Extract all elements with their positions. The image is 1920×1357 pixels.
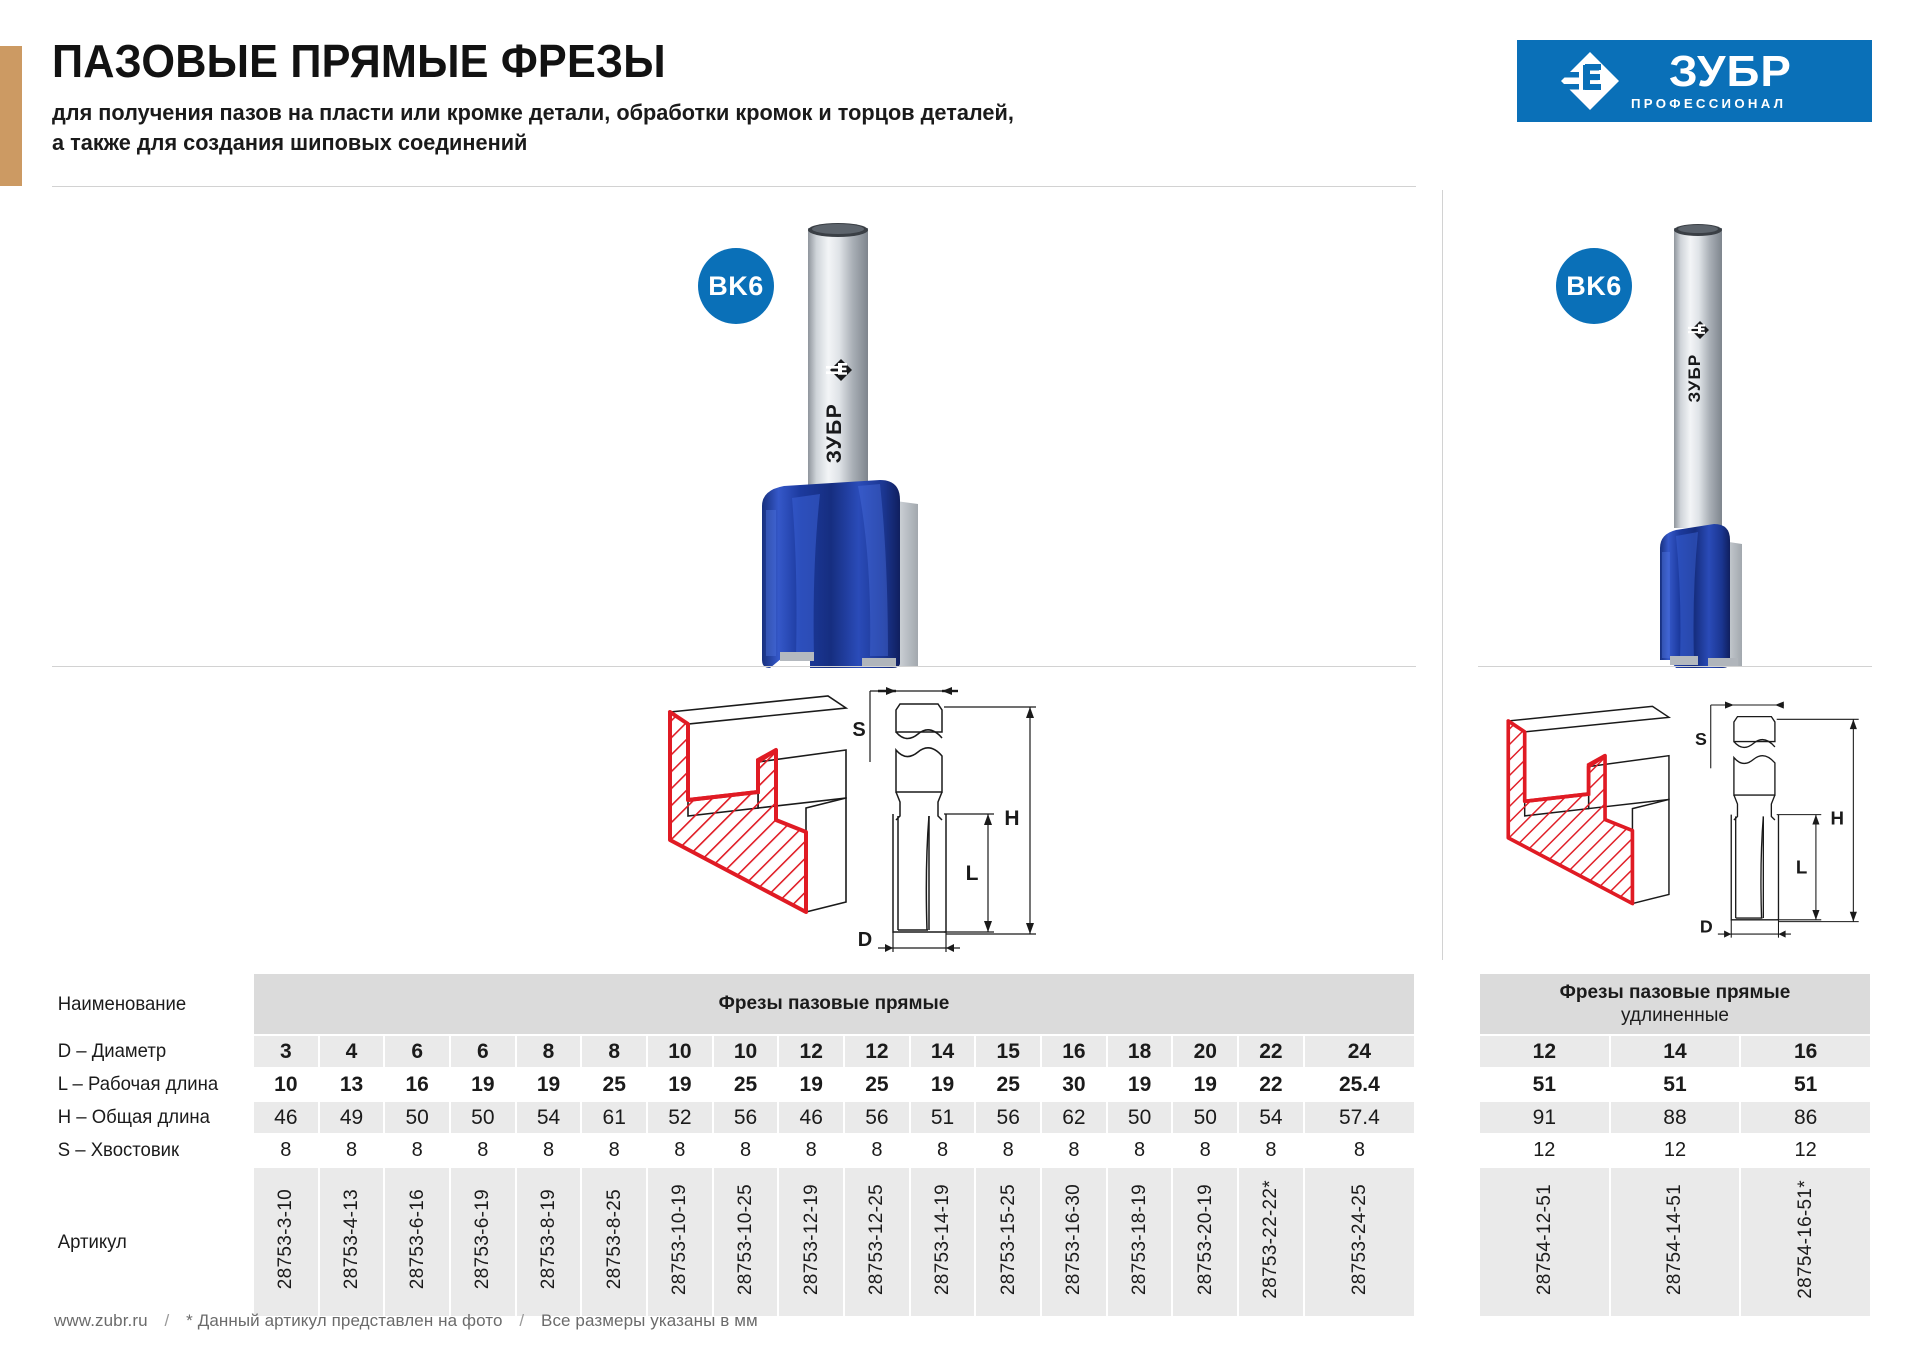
- cell-diameter-8: 12: [778, 1035, 844, 1068]
- cell-ext-total-length-0: 91: [1479, 1101, 1610, 1134]
- row-label-name: Наименование: [53, 973, 243, 1035]
- cell-diameter-12: 16: [1041, 1035, 1107, 1068]
- cell-work-length-14: 19: [1172, 1068, 1238, 1101]
- cell-diameter-15: 22: [1238, 1035, 1304, 1068]
- dimension-drawing-main: S H L D: [840, 680, 1070, 960]
- logo-text-group: ЗУБР ПРОФЕССИОНАЛ: [1631, 51, 1787, 111]
- cell-article-14: 28753-20-19: [1172, 1167, 1238, 1317]
- spec-table-extended: Фрезы пазовые прямые удлиненные 121416 5…: [1478, 972, 1872, 1318]
- cell-article-15: 28753-22-22*: [1238, 1167, 1304, 1317]
- footer-site[interactable]: www.zubr.ru: [54, 1311, 148, 1330]
- group-header-extended-sub: удлиненные: [1480, 1005, 1870, 1027]
- cell-total-length-3: 50: [450, 1101, 516, 1134]
- cell-total-length-11: 56: [975, 1101, 1041, 1134]
- row-label-article: Артикул: [53, 1167, 243, 1317]
- cell-shank-5: 8: [581, 1134, 647, 1167]
- cell-work-length-4: 19: [516, 1068, 582, 1101]
- article-text: 28753-6-16: [408, 1189, 427, 1289]
- page-title: ПАЗОВЫЕ ПРЯМЫЕ ФРЕЗЫ: [52, 38, 1330, 86]
- table-row-diameter: D – Диаметр 3466881010121214151618202224: [53, 1035, 1415, 1068]
- datasheet-page: ПАЗОВЫЕ ПРЯМЫЕ ФРЕЗЫ для получения пазов…: [0, 0, 1920, 1357]
- cell-article-6: 28753-10-19: [647, 1167, 713, 1317]
- cell-diameter-13: 18: [1107, 1035, 1173, 1068]
- article-text: 28753-10-19: [670, 1184, 689, 1295]
- cell-shank-3: 8: [450, 1134, 516, 1167]
- table-row-total-length-ext: 918886: [1479, 1101, 1871, 1134]
- cell-total-length-1: 49: [319, 1101, 385, 1134]
- cell-shank-2: 8: [384, 1134, 450, 1167]
- article-text: 28753-20-19: [1196, 1184, 1215, 1295]
- cell-ext-diameter-0: 12: [1479, 1035, 1610, 1068]
- article-text: 28753-6-19: [473, 1189, 492, 1289]
- cell-diameter-2: 6: [384, 1035, 450, 1068]
- divider-top: [52, 186, 1416, 187]
- cell-total-length-8: 46: [778, 1101, 844, 1134]
- cell-ext-diameter-2: 16: [1740, 1035, 1871, 1068]
- cell-shank-10: 8: [910, 1134, 976, 1167]
- cell-ext-shank-0: 12: [1479, 1134, 1610, 1167]
- cell-work-length-16: 25.4: [1304, 1068, 1415, 1101]
- cell-shank-11: 8: [975, 1134, 1041, 1167]
- cell-ext-work-length-0: 51: [1479, 1068, 1610, 1101]
- cell-work-length-1: 13: [319, 1068, 385, 1101]
- article-text: 28753-3-10: [276, 1189, 295, 1289]
- cell-diameter-6: 10: [647, 1035, 713, 1068]
- cell-total-length-0: 46: [253, 1101, 319, 1134]
- cell-work-length-15: 22: [1238, 1068, 1304, 1101]
- cell-work-length-5: 25: [581, 1068, 647, 1101]
- cell-total-length-7: 56: [713, 1101, 779, 1134]
- cell-diameter-1: 4: [319, 1035, 385, 1068]
- cell-shank-9: 8: [844, 1134, 910, 1167]
- article-text: 28753-12-25: [867, 1184, 886, 1295]
- zubr-diamond-icon: [1559, 50, 1621, 112]
- cell-total-length-15: 54: [1238, 1101, 1304, 1134]
- article-text: 28754-12-51: [1535, 1184, 1554, 1295]
- svg-text:ЗУБР: ЗУБР: [1685, 354, 1704, 403]
- groove-workpiece-diagram-extended: [1490, 690, 1700, 940]
- subtitle-line-1: для получения пазов на пласти или кромке…: [52, 98, 1364, 128]
- cell-article-0: 28753-3-10: [253, 1167, 319, 1317]
- cell-total-length-14: 50: [1172, 1101, 1238, 1134]
- cell-diameter-0: 3: [253, 1035, 319, 1068]
- article-text: 28753-4-13: [342, 1189, 361, 1289]
- cell-total-length-6: 52: [647, 1101, 713, 1134]
- dim-label-d: D: [858, 929, 872, 951]
- carbide-grade-badge-main: BK6: [698, 248, 774, 324]
- cell-article-13: 28753-18-19: [1107, 1167, 1173, 1317]
- cell-article-1: 28753-4-13: [319, 1167, 385, 1317]
- cell-article-3: 28753-6-19: [450, 1167, 516, 1317]
- svg-text:L: L: [1796, 856, 1807, 877]
- cell-diameter-9: 12: [844, 1035, 910, 1068]
- row-label-shank: S – Хвостовик: [53, 1134, 243, 1167]
- cell-article-9: 28753-12-25: [844, 1167, 910, 1317]
- cell-ext-shank-2: 12: [1740, 1134, 1871, 1167]
- shank-brand-text: ЗУБР: [823, 403, 846, 464]
- table-row-diameter-ext: 121416: [1479, 1035, 1871, 1068]
- cell-article-5: 28753-8-25: [581, 1167, 647, 1317]
- divider-vertical: [1442, 190, 1443, 960]
- cell-article-2: 28753-6-16: [384, 1167, 450, 1317]
- cell-shank-6: 8: [647, 1134, 713, 1167]
- cell-article-12: 28753-16-30: [1041, 1167, 1107, 1317]
- article-text: 28753-22-22*: [1261, 1180, 1280, 1299]
- cell-diameter-16: 24: [1304, 1035, 1415, 1068]
- cell-shank-7: 8: [713, 1134, 779, 1167]
- cell-shank-8: 8: [778, 1134, 844, 1167]
- svg-text:D: D: [1700, 916, 1713, 936]
- cell-article-10: 28753-14-19: [910, 1167, 976, 1317]
- cell-article-16: 28753-24-25: [1304, 1167, 1415, 1317]
- cell-work-length-7: 25: [713, 1068, 779, 1101]
- article-text: 28753-16-30: [1064, 1184, 1083, 1295]
- cell-total-length-12: 62: [1041, 1101, 1107, 1134]
- dim-label-l: L: [966, 862, 979, 885]
- cell-shank-14: 8: [1172, 1134, 1238, 1167]
- footer-separator-1: /: [165, 1311, 170, 1330]
- cell-diameter-5: 8: [581, 1035, 647, 1068]
- cell-article-4: 28753-8-19: [516, 1167, 582, 1317]
- cell-ext-total-length-1: 88: [1610, 1101, 1741, 1134]
- article-text: 28753-10-25: [736, 1184, 755, 1295]
- article-text: 28753-18-19: [1130, 1184, 1149, 1295]
- cell-shank-0: 8: [253, 1134, 319, 1167]
- cell-ext-article-1: 28754-14-51: [1610, 1167, 1741, 1317]
- article-text: 28753-24-25: [1350, 1184, 1369, 1295]
- cell-ext-article-2: 28754-16-51*: [1740, 1167, 1871, 1317]
- dim-label-s: S: [852, 719, 865, 741]
- row-label-total-length: H – Общая длина: [53, 1101, 243, 1134]
- group-header-extended: Фрезы пазовые прямые удлиненные: [1479, 973, 1871, 1035]
- cell-ext-article-0: 28754-12-51: [1479, 1167, 1610, 1317]
- article-text: 28753-14-19: [933, 1184, 952, 1295]
- table-row-header-ext: Фрезы пазовые прямые удлиненные: [1479, 973, 1871, 1035]
- cell-ext-diameter-1: 14: [1610, 1035, 1741, 1068]
- cell-total-length-16: 57.4: [1304, 1101, 1415, 1134]
- article-text: 28754-14-51: [1665, 1184, 1684, 1295]
- cell-shank-13: 8: [1107, 1134, 1173, 1167]
- footer: www.zubr.ru / * Данный артикул представл…: [52, 1311, 760, 1331]
- product-photo-extended: ЗУБР: [1636, 218, 1786, 668]
- logo-tagline-text: ПРОФЕССИОНАЛ: [1631, 96, 1786, 111]
- svg-text:ЗУБР: ЗУБР: [823, 403, 846, 464]
- footer-note-units: Все размеры указаны в мм: [541, 1311, 758, 1330]
- dim-label-h: H: [1004, 807, 1019, 830]
- article-text: 28753-8-25: [605, 1189, 624, 1289]
- table-row-article: Артикул 28753-3-1028753-4-1328753-6-1628…: [53, 1167, 1415, 1317]
- table-row-header: Наименование Фрезы пазовые прямые: [53, 973, 1415, 1035]
- row-label-diameter: D – Диаметр: [53, 1035, 243, 1068]
- accent-bar: [0, 46, 22, 186]
- article-text: 28753-8-19: [539, 1189, 558, 1289]
- cell-work-length-12: 30: [1041, 1068, 1107, 1101]
- cell-total-length-13: 50: [1107, 1101, 1173, 1134]
- article-text: 28753-15-25: [999, 1184, 1018, 1295]
- cell-diameter-10: 14: [910, 1035, 976, 1068]
- table-row-shank: S – Хвостовик 88888888888888888: [53, 1134, 1415, 1167]
- cell-shank-4: 8: [516, 1134, 582, 1167]
- row-label-work-length: L – Рабочая длина: [53, 1068, 243, 1101]
- cell-diameter-7: 10: [713, 1035, 779, 1068]
- cell-work-length-9: 25: [844, 1068, 910, 1101]
- subtitle-line-2: а также для создания шиповых соединений: [52, 128, 1364, 158]
- cell-work-length-6: 19: [647, 1068, 713, 1101]
- article-text: 28754-16-51*: [1796, 1180, 1815, 1299]
- divider-mid-right: [1478, 666, 1872, 667]
- header: ПАЗОВЫЕ ПРЯМЫЕ ФРЕЗЫ для получения пазов…: [52, 38, 1412, 158]
- cell-total-length-4: 54: [516, 1101, 582, 1134]
- cell-work-length-10: 19: [910, 1068, 976, 1101]
- cell-total-length-9: 56: [844, 1101, 910, 1134]
- cell-work-length-13: 19: [1107, 1068, 1173, 1101]
- cell-total-length-10: 51: [910, 1101, 976, 1134]
- cell-article-8: 28753-12-19: [778, 1167, 844, 1317]
- divider-mid-left: [52, 666, 1416, 667]
- cell-shank-1: 8: [319, 1134, 385, 1167]
- cell-work-length-2: 16: [384, 1068, 450, 1101]
- table-row-work-length: L – Рабочая длина 1013161919251925192519…: [53, 1068, 1415, 1101]
- cell-ext-work-length-1: 51: [1610, 1068, 1741, 1101]
- group-header-main: Фрезы пазовые прямые: [253, 973, 1415, 1035]
- cell-work-length-3: 19: [450, 1068, 516, 1101]
- table-row-work-length-ext: 515151: [1479, 1068, 1871, 1101]
- table-row-total-length: H – Общая длина 464950505461525646565156…: [53, 1101, 1415, 1134]
- svg-text:H: H: [1831, 807, 1845, 828]
- cell-total-length-5: 61: [581, 1101, 647, 1134]
- cell-article-7: 28753-10-25: [713, 1167, 779, 1317]
- page-subtitle: для получения пазов на пласти или кромке…: [52, 98, 1364, 158]
- spec-table-main: Наименование Фрезы пазовые прямые D – Ди…: [52, 972, 1416, 1318]
- cell-work-length-11: 25: [975, 1068, 1041, 1101]
- table-row-article-ext: 28754-12-5128754-14-5128754-16-51*: [1479, 1167, 1871, 1317]
- cell-ext-work-length-2: 51: [1740, 1068, 1871, 1101]
- cell-total-length-2: 50: [384, 1101, 450, 1134]
- dimension-drawing-extended: S H L D: [1684, 680, 1889, 960]
- cell-shank-12: 8: [1041, 1134, 1107, 1167]
- cell-work-length-8: 19: [778, 1068, 844, 1101]
- carbide-grade-badge-extended: BK6: [1556, 248, 1632, 324]
- group-header-extended-main: Фрезы пазовые прямые: [1560, 982, 1791, 1003]
- table-row-shank-ext: 121212: [1479, 1134, 1871, 1167]
- cell-diameter-3: 6: [450, 1035, 516, 1068]
- cell-diameter-11: 15: [975, 1035, 1041, 1068]
- logo-brand-text: ЗУБР: [1669, 51, 1792, 93]
- cell-diameter-4: 8: [516, 1035, 582, 1068]
- brand-logo: ЗУБР ПРОФЕССИОНАЛ: [1517, 40, 1872, 122]
- cell-ext-total-length-2: 86: [1740, 1101, 1871, 1134]
- cell-work-length-0: 10: [253, 1068, 319, 1101]
- svg-text:S: S: [1695, 729, 1707, 749]
- cell-shank-16: 8: [1304, 1134, 1415, 1167]
- footer-separator-2: /: [519, 1311, 524, 1330]
- footer-note-photo: * Данный артикул представлен на фото: [186, 1311, 502, 1330]
- cell-shank-15: 8: [1238, 1134, 1304, 1167]
- cell-ext-shank-1: 12: [1610, 1134, 1741, 1167]
- cell-diameter-14: 20: [1172, 1035, 1238, 1068]
- article-text: 28753-12-19: [802, 1184, 821, 1295]
- cell-article-11: 28753-15-25: [975, 1167, 1041, 1317]
